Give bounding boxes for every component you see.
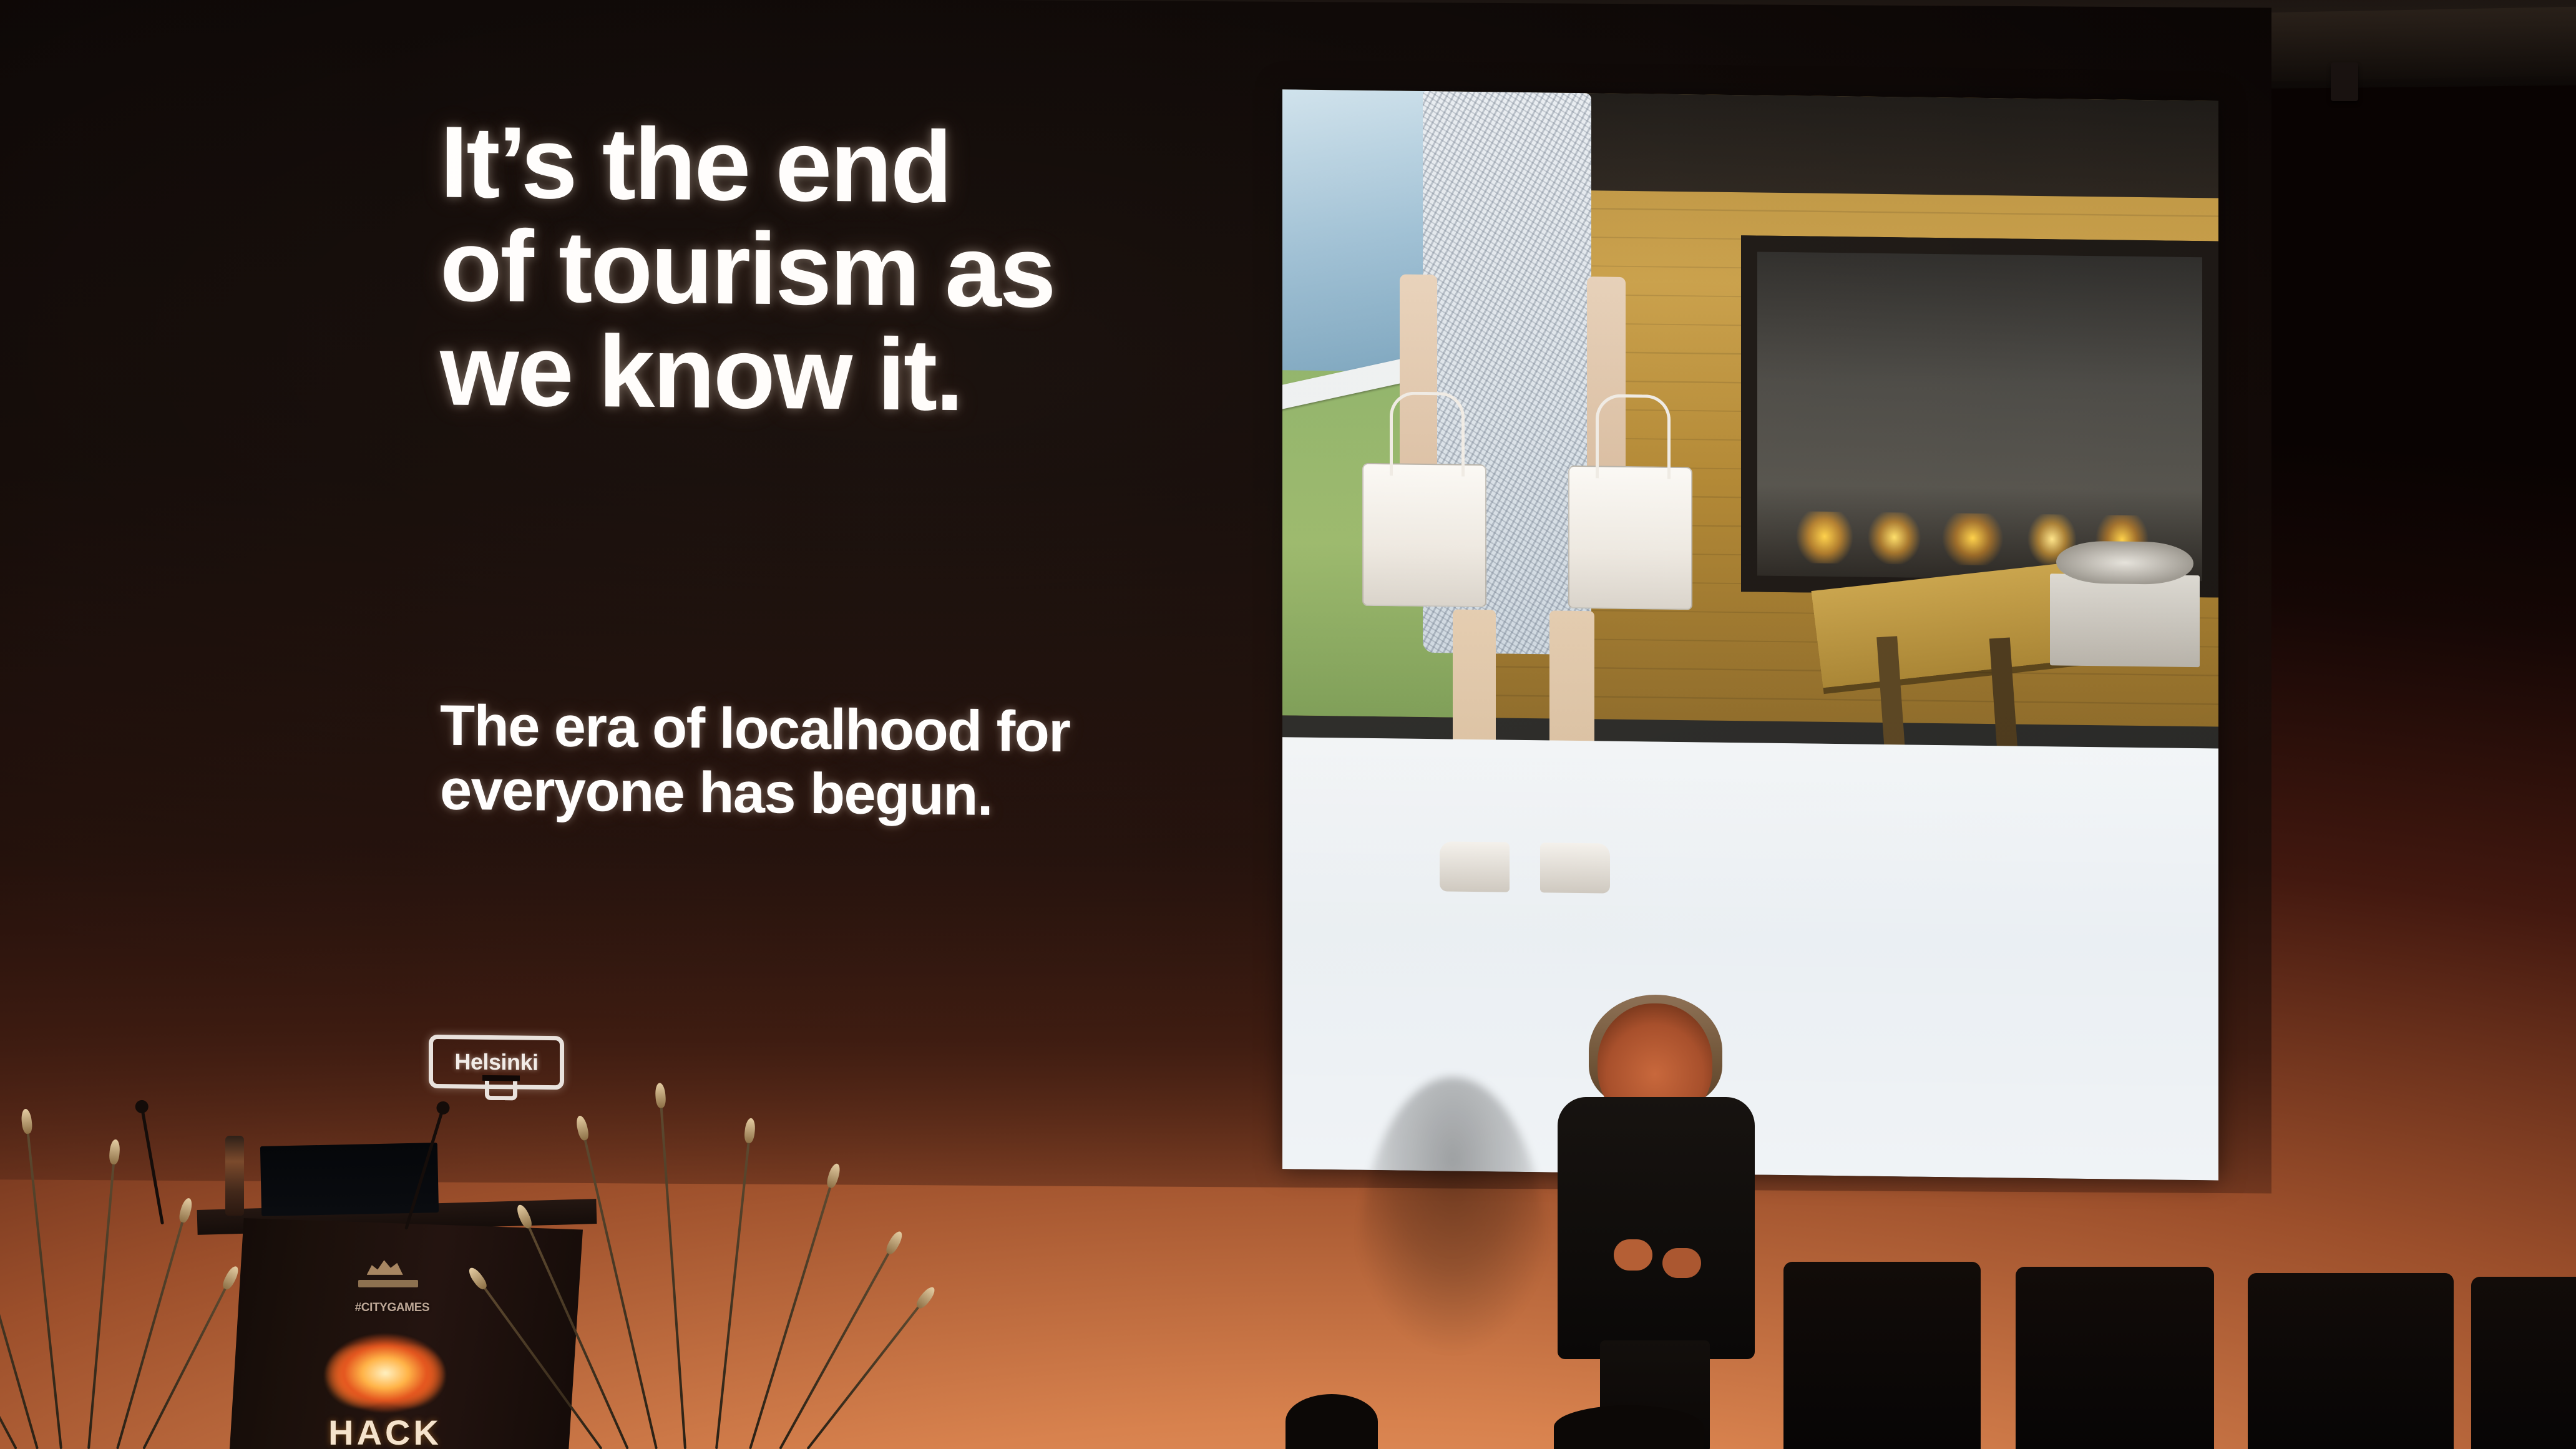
slide-subheadline: The era of localhood for everyone has be… [440,694,1270,831]
photo-handbag [1568,466,1692,610]
photo-sneaker [1540,843,1611,894]
auditorium-stage: It’s the end of tourism as we know it. T… [0,0,2576,1449]
helsinki-logo-label: Helsinki [454,1048,538,1076]
audience-head-silhouette [1286,1394,1378,1449]
slide-subheadline-line: The era of localhood for [440,694,1270,767]
helsinki-logo-badge: Helsinki [429,1035,564,1090]
presenter-shadow [1359,1077,1546,1449]
photo-handbag [1362,463,1486,607]
presenter-hand [1662,1248,1701,1278]
projection-screen: It’s the end of tourism as we know it. T… [0,0,2271,1193]
presenter [1540,1003,1777,1449]
photo-sneaker [1440,842,1510,892]
water-bottle [225,1136,244,1216]
audience-chair [2016,1267,2214,1449]
skyline-shape [367,1257,403,1275]
presenter-torso [1558,1097,1755,1359]
plant-arrangement-left [0,1075,225,1449]
slide-headline: It’s the end of tourism as we know it. [440,110,1326,431]
slide-headline-line: of tourism as [440,214,1326,327]
flame-icon [307,1329,463,1417]
presenter-hand [1614,1239,1652,1271]
skyline-base-bar [358,1280,418,1287]
event-hashtag: #CITYGAMES [355,1301,430,1315]
audience-head-silhouette [1554,1405,1704,1449]
badge-notch-icon [485,1080,517,1101]
slide-headline-line: we know it. [440,318,1326,431]
skyline-icon [358,1257,419,1294]
audience-chair [2471,1277,2576,1449]
audience-chair [1783,1262,1981,1449]
plant-arrangement-center [562,1062,886,1449]
audience-chair [2248,1273,2454,1449]
slide-subheadline-line: everyone has begun. [440,758,1270,831]
ceiling-light-mount [2331,62,2358,101]
lectern: #CITYGAMES HACK [230,1218,583,1449]
photo-sauna-stones [2050,573,2200,667]
slide-headline-line: It’s the end [440,110,1326,223]
event-name-label: HACK [328,1412,442,1449]
